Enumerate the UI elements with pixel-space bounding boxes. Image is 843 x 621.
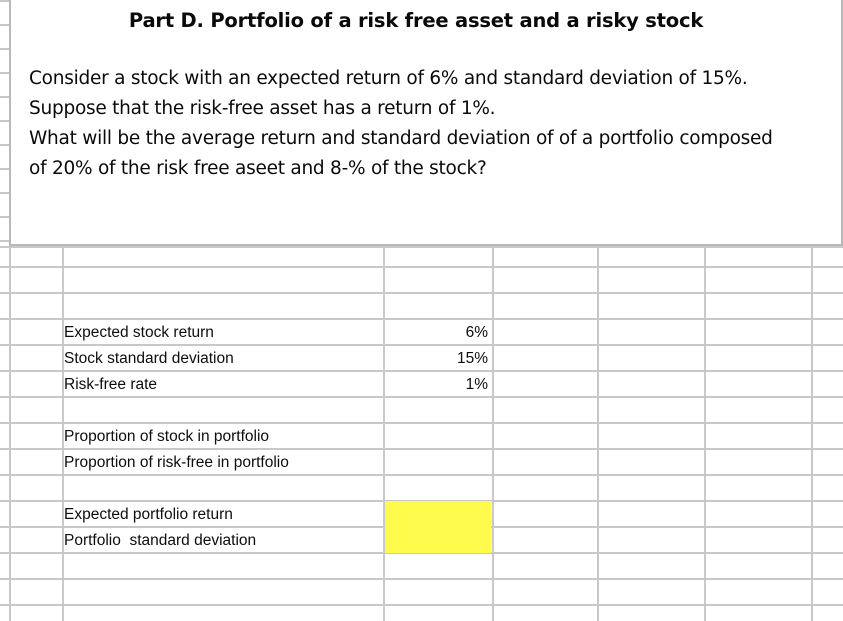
textbox-body: Consider a stock with an expected return… bbox=[29, 64, 843, 184]
cell-label[interactable]: Portfolio standard deviation bbox=[64, 529, 380, 553]
textbox-line-1: Consider a stock with an expected return… bbox=[29, 64, 843, 94]
textbox-line-2: Suppose that the risk-free asset has a r… bbox=[29, 94, 843, 124]
spreadsheet-screenshot: Expected stock return6%Stock standard de… bbox=[0, 0, 843, 621]
cell-label[interactable]: Expected portfolio return bbox=[64, 503, 380, 527]
highlighted-answer-cell[interactable] bbox=[385, 527, 491, 553]
cell-label[interactable]: Proportion of risk-free in portfolio bbox=[64, 451, 380, 475]
textbox-line-4: of 20% of the risk free aseet and 8-% of… bbox=[29, 154, 843, 184]
question-textbox[interactable]: Part D. Portfolio of a risk free asset a… bbox=[9, 0, 843, 246]
cell-label[interactable]: Expected stock return bbox=[64, 321, 380, 345]
cell-label[interactable]: Stock standard deviation bbox=[64, 347, 380, 371]
highlighted-answer-cell[interactable] bbox=[385, 501, 491, 527]
cell-label[interactable]: Risk-free rate bbox=[64, 373, 380, 397]
cell-value[interactable]: 15% bbox=[385, 347, 488, 371]
cell-value[interactable]: 1% bbox=[385, 373, 488, 397]
textbox-title: Part D. Portfolio of a risk free asset a… bbox=[11, 9, 821, 32]
cell-label[interactable]: Proportion of stock in portfolio bbox=[64, 425, 380, 449]
cell-value[interactable]: 6% bbox=[385, 321, 488, 345]
textbox-line-3: What will be the average return and stan… bbox=[29, 124, 843, 154]
